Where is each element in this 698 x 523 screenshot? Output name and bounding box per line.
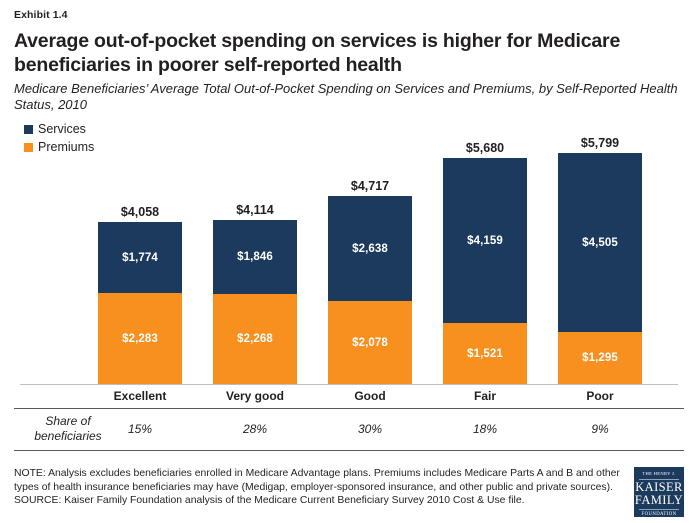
category-label-very-good: Very good (213, 389, 297, 403)
logo-line-1: THE HENRY J. (634, 472, 684, 477)
bar-segment-services: $1,846 (213, 220, 297, 294)
bar-segment-services: $4,505 (558, 153, 642, 332)
legend-item-services: Services (24, 121, 94, 137)
bar-segment-value: $1,521 (467, 348, 503, 360)
bar-total-label: $4,058 (98, 205, 182, 219)
share-of-beneficiaries-table: Share of beneficiaries 15%28%30%18%9% (14, 408, 684, 451)
legend-label-services: Services (38, 122, 86, 136)
share-row-label-line2: beneficiaries (34, 429, 101, 443)
category-axis: ExcellentVery goodGoodFairPoor (14, 387, 684, 407)
bar-segment-value: $1,846 (237, 251, 273, 263)
legend-item-premiums: Premiums (24, 139, 94, 155)
legend-label-premiums: Premiums (38, 140, 94, 154)
share-value-very-good: 28% (213, 422, 297, 436)
exhibit-page: Exhibit 1.4 Average out-of-pocket spendi… (0, 0, 698, 523)
category-label-excellent: Excellent (98, 389, 182, 403)
footer-notes: NOTE: Analysis excludes beneficiaries en… (14, 467, 634, 508)
services-swatch-icon (24, 125, 33, 134)
bar-segment-premiums: $2,268 (213, 294, 297, 384)
category-label-poor: Poor (558, 389, 642, 403)
bar-segment-services: $1,774 (98, 222, 182, 293)
premiums-swatch-icon (24, 143, 33, 152)
stacked-bar-chart: Services Premiums $2,283$1,774$4,058$2,2… (14, 115, 684, 385)
logo-line-2: KAISER (634, 481, 684, 494)
bar-total-label: $4,114 (213, 203, 297, 217)
bar-group-fair: $1,521$4,159 (443, 158, 527, 384)
kaiser-family-foundation-logo: THE HENRY J. KAISER FAMILY FOUNDATION (634, 467, 684, 517)
page-title: Average out-of-pocket spending on servic… (14, 29, 684, 77)
bar-segment-services: $2,638 (328, 196, 412, 301)
bar-group-excellent: $2,283$1,774 (98, 222, 182, 384)
footer-source: SOURCE: Kaiser Family Foundation analysi… (14, 494, 626, 508)
logo-line-4: FOUNDATION (634, 513, 684, 518)
logo-line-3: FAMILY (634, 494, 684, 507)
category-label-good: Good (328, 389, 412, 403)
bar-segment-value: $4,505 (582, 237, 618, 249)
exhibit-number: Exhibit 1.4 (14, 0, 684, 22)
footer-note: NOTE: Analysis excludes beneficiaries en… (14, 467, 626, 494)
bar-segment-premiums: $1,521 (443, 323, 527, 384)
bar-segment-value: $2,268 (237, 333, 273, 345)
share-value-excellent: 15% (98, 422, 182, 436)
share-value-fair: 18% (443, 422, 527, 436)
bar-segment-premiums: $2,078 (328, 301, 412, 384)
bar-segment-premiums: $2,283 (98, 293, 182, 384)
share-value-good: 30% (328, 422, 412, 436)
bar-segment-value: $2,638 (352, 243, 388, 255)
category-label-fair: Fair (443, 389, 527, 403)
footer: NOTE: Analysis excludes beneficiaries en… (14, 467, 684, 517)
bar-segment-value: $2,283 (122, 333, 158, 345)
chart-legend: Services Premiums (24, 121, 94, 157)
chart-plot-area: $2,283$1,774$4,058$2,268$1,846$4,114$2,0… (14, 115, 684, 385)
bar-segment-services: $4,159 (443, 158, 527, 324)
bar-segment-value: $1,295 (582, 352, 618, 364)
bar-total-label: $4,717 (328, 179, 412, 193)
bar-segment-value: $1,774 (122, 252, 158, 264)
bar-group-poor: $1,295$4,505 (558, 153, 642, 384)
bar-segment-value: $2,078 (352, 337, 388, 349)
bar-group-very-good: $2,268$1,846 (213, 220, 297, 384)
bar-group-good: $2,078$2,638 (328, 196, 412, 384)
bar-segment-premiums: $1,295 (558, 332, 642, 384)
share-row-label-line1: Share of (45, 414, 90, 428)
page-subtitle: Medicare Beneficiaries’ Average Total Ou… (14, 81, 684, 113)
bar-total-label: $5,680 (443, 141, 527, 155)
share-value-poor: 9% (558, 422, 642, 436)
bar-total-label: $5,799 (558, 136, 642, 150)
logo-rule-bottom (639, 509, 679, 510)
chart-baseline (20, 384, 678, 385)
bar-segment-value: $4,159 (467, 235, 503, 247)
